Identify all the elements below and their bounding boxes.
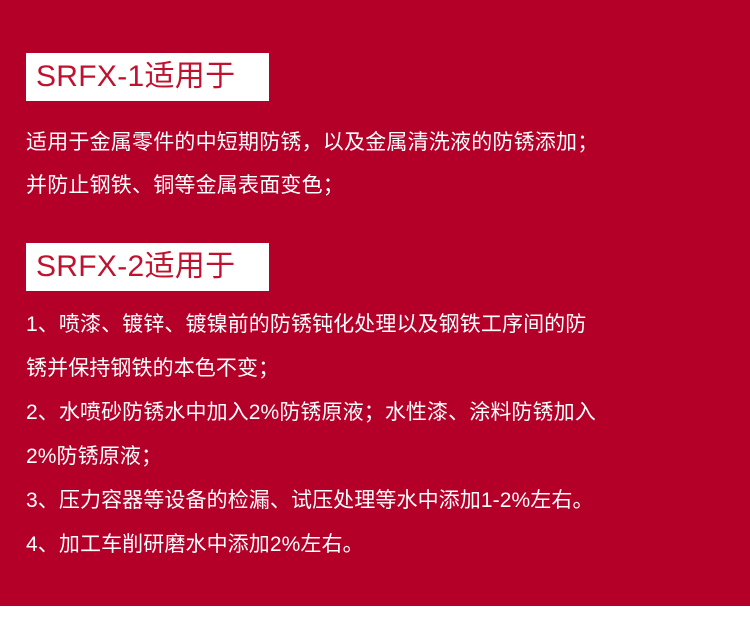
list-item-2-line-1: 2、水喷砂防锈水中加入2%防锈原液；水性漆、涂料防锈加入: [26, 391, 730, 435]
section-srfx2: SRFX-2适用于 1、喷漆、镀锌、镀镍前的防锈钝化处理以及钢铁工序间的防 锈并…: [0, 243, 750, 567]
body-block-srfx2: 1、喷漆、镀锌、镀镍前的防锈钝化处理以及钢铁工序间的防 锈并保持钢铁的本色不变；…: [0, 303, 750, 567]
list-item-1-line-1: 1、喷漆、镀锌、镀镍前的防锈钝化处理以及钢铁工序间的防: [26, 303, 730, 347]
heading-chip-srfx1: SRFX-1适用于: [26, 53, 269, 101]
heading-chip-srfx2: SRFX-2适用于: [26, 243, 269, 291]
bottom-white-strip: [0, 606, 750, 632]
section-srfx1: SRFX-1适用于 适用于金属零件的中短期防锈，以及金属清洗液的防锈添加； 并防…: [0, 53, 750, 207]
body-block-srfx1: 适用于金属零件的中短期防锈，以及金属清洗液的防锈添加； 并防止钢铁、铜等金属表面…: [0, 121, 750, 207]
promo-panel: SRFX-1适用于 适用于金属零件的中短期防锈，以及金属清洗液的防锈添加； 并防…: [0, 0, 750, 632]
list-item-2-line-2: 2%防锈原液；: [26, 435, 730, 479]
list-item-3: 3、压力容器等设备的检漏、试压处理等水中添加1-2%左右。: [26, 479, 730, 523]
body-line: 适用于金属零件的中短期防锈，以及金属清洗液的防锈添加；: [26, 121, 730, 164]
list-item-4: 4、加工车削研磨水中添加2%左右。: [26, 523, 730, 567]
body-line: 并防止钢铁、铜等金属表面变色；: [26, 164, 730, 207]
list-item-1-line-2: 锈并保持钢铁的本色不变；: [26, 347, 730, 391]
